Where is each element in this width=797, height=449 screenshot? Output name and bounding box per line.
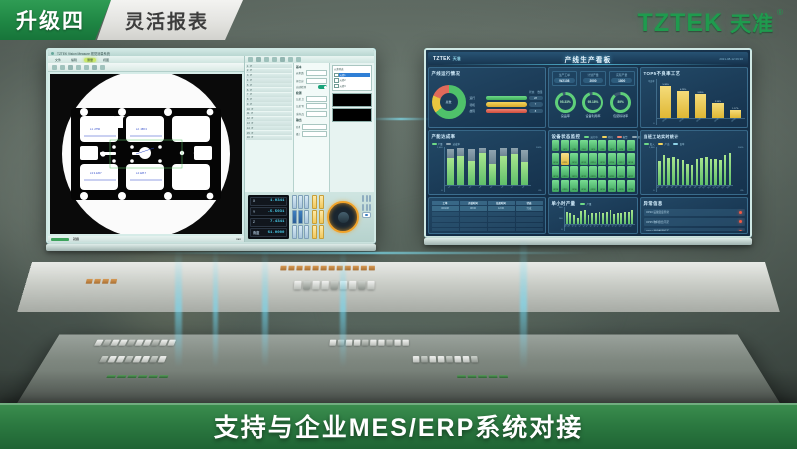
roi-icon[interactable] [92, 65, 97, 70]
equipment-cell[interactable]: OP16 [608, 153, 616, 165]
chart-bar [728, 147, 732, 185]
capacity-legend: 产量 达成率 [432, 142, 543, 146]
equipment-cell[interactable]: OP11 [561, 153, 569, 165]
axis-tick: 0% [740, 190, 743, 192]
prop-input[interactable] [306, 111, 327, 117]
auto-detect-toggle[interactable] [318, 85, 327, 89]
export-icon[interactable] [288, 57, 293, 62]
prop-section-1: 检测 [296, 91, 327, 95]
element-grid-row[interactable]: 13P [246, 121, 292, 125]
equipment-cell[interactable]: OP24 [598, 166, 606, 178]
element-grid-row[interactable]: 2P [246, 69, 292, 73]
grid-cell-element: P [250, 65, 252, 68]
prop-input[interactable] [306, 96, 327, 102]
factory-crate [369, 266, 375, 271]
gauge-utilization: 95.18% 设备利用率 [582, 92, 603, 119]
element-grid-row[interactable]: 15P [246, 131, 292, 135]
vision-canvas-pane: 文件 编辑 测量 视图 [48, 56, 245, 242]
delete-element-icon[interactable] [256, 57, 261, 62]
element-grid-row[interactable]: 11P [246, 112, 292, 116]
chart-bar [631, 207, 633, 224]
bar-segment-value [606, 212, 608, 224]
keypad-button[interactable] [304, 225, 309, 239]
jog-dial[interactable] [327, 201, 359, 233]
chart-bar [667, 147, 671, 185]
factory-machine [421, 356, 428, 362]
alarm-item[interactable]: OP35 物料供给不足 [644, 218, 745, 226]
chart-bar [573, 207, 575, 224]
run-icon[interactable] [264, 57, 269, 62]
equipment-cell[interactable]: OP6 [598, 140, 606, 152]
settings-icon[interactable] [296, 57, 301, 62]
legend-label: 运行中 [590, 135, 597, 139]
hourly-legend: 产量 [580, 202, 591, 206]
keypad-button[interactable] [298, 195, 303, 209]
right-monitor: TZTEK 天准 产线生产看板 2021-08-12 09:30 产线运行情况 [424, 48, 752, 238]
factory-machine-row [94, 340, 176, 346]
bar-segment-value [624, 212, 626, 223]
chart-bar [686, 147, 690, 185]
card-alarms: 异常信息 OP20 设备温度异常OP35 物料供给不足OP12 视觉检测超差 [640, 197, 748, 234]
jog-right-icon[interactable] [319, 210, 324, 224]
bar-segment-value [719, 160, 722, 184]
grid-cell-index: 8 [247, 98, 248, 101]
bar-segment-value [724, 155, 727, 185]
axis-tick: 0 [653, 190, 654, 192]
factory-machine [329, 340, 336, 346]
chart-bar [456, 147, 465, 185]
gauge-value: 95.33% [558, 95, 574, 111]
chart-bar [509, 147, 518, 185]
axis-tick: 200 [559, 207, 563, 209]
gauge-ring: 89% [610, 92, 631, 113]
equipment-cell[interactable]: OP29 [561, 180, 569, 192]
misc-button[interactable] [362, 195, 364, 202]
equipment-legend: 运行中待机报警离线 [584, 135, 642, 139]
dashboard-title: 产线生产看板 [428, 54, 748, 64]
prop-field[interactable]: 元素类型 [296, 70, 327, 76]
vision-image-canvas[interactable]: L1 .2750 L2 .158.3 L3 3.1207 L4 128.7 [50, 74, 242, 234]
grid-cell-element: P [250, 74, 252, 77]
checkbox-icon[interactable] [334, 78, 339, 83]
prop-field[interactable]: 采样点数 [296, 111, 327, 117]
gauge-value: 89% [613, 95, 629, 111]
ribbon-step-chip: 升级四 [0, 0, 111, 40]
dro-axis-label: Y [253, 210, 255, 214]
brand-logo-en: TZTEK [638, 9, 724, 38]
axis-jog-arrows[interactable] [312, 195, 324, 239]
right-monitor-screen: TZTEK 天准 产线生产看板 2021-08-12 09:30 产线运行情况 [424, 48, 752, 238]
table-cell [516, 223, 543, 228]
equipment-cell[interactable]: OP26 [617, 166, 625, 178]
vision-tab-0[interactable]: 文件 [52, 58, 64, 62]
equipment-cell[interactable]: OP31 [580, 180, 588, 192]
table-row[interactable] [432, 212, 543, 217]
equipment-cell[interactable]: OP14 [589, 153, 597, 165]
legend-header: 状态 数量 [470, 90, 543, 94]
table-row[interactable] [432, 217, 543, 222]
tree-item[interactable]: 元素2 [334, 78, 370, 83]
save-icon[interactable] [280, 57, 285, 62]
equipment-cell[interactable]: OP3 [570, 140, 578, 152]
legend-swatch [580, 203, 585, 205]
table-row[interactable] [432, 223, 543, 228]
line-status-donut-chart: 总数 [432, 85, 466, 119]
shift-bars [657, 147, 733, 186]
prop-field[interactable]: 拟合方式 [296, 78, 327, 84]
axis-tick: 0% [538, 190, 541, 192]
bar-segment-value [658, 161, 661, 185]
misc-controls [362, 195, 371, 239]
equipment-cell[interactable]: OP35 [617, 180, 625, 192]
element-grid-row[interactable]: 4P [246, 78, 292, 82]
equipment-status-grid[interactable]: OP1OP2OP3OP4OP5OP6OP7OP8OP9OP10OP11OP12O… [552, 140, 635, 192]
shift-x-axis: S1S2S3S4S5S6S7S8S9S10S11S12S13S14S15S16 [657, 186, 733, 192]
jog-dial-knob[interactable] [338, 212, 349, 223]
element-grid-row[interactable]: 8P [246, 97, 292, 101]
misc-button[interactable] [366, 195, 368, 202]
dashboard-column-left: 产线运行情况 总数 状态 数量 [428, 67, 546, 234]
keypad-button[interactable] [298, 210, 303, 224]
data-link-beam [372, 118, 430, 120]
table-row[interactable] [432, 228, 543, 230]
axis-tick: 0 [653, 123, 654, 125]
jog-zdown-icon[interactable] [319, 225, 324, 239]
equipment-cell[interactable]: OP34 [608, 180, 616, 192]
bar-segment-value [686, 164, 689, 185]
jog-dial-area[interactable] [327, 195, 359, 239]
grid-cell-index: 13 [247, 122, 250, 125]
equipment-cell[interactable]: OP27 [627, 166, 635, 178]
x-axis-tick: L2 [455, 183, 466, 194]
jog-down-icon[interactable] [319, 195, 324, 209]
equipment-cell[interactable]: OP7 [608, 140, 616, 152]
chart-bar [598, 207, 600, 224]
screenshot-stage: 升级四 灵活报表 TZTEK 天准 ® TZTEK Vision Measure… [0, 0, 797, 449]
jog-left-icon[interactable] [312, 210, 317, 224]
bar-segment-value [569, 213, 571, 223]
axis-tick: 0 [561, 229, 562, 231]
equipment-cell[interactable]: OP25 [608, 166, 616, 178]
data-bus-beam [150, 252, 590, 254]
factory-machine [362, 340, 369, 346]
equipment-cell[interactable]: OP8 [617, 140, 625, 152]
factory-crate-row [85, 279, 117, 284]
alarm-text: OP35 物料供给不足 [646, 220, 669, 224]
element-grid-row[interactable]: 16P [246, 136, 292, 140]
equipment-cell[interactable]: OP1 [552, 140, 560, 152]
axis-tick: 100 [559, 218, 563, 220]
grid-cell-index: 6 [247, 89, 248, 92]
chart-bar [723, 147, 727, 185]
capacity-x-axis: L1L2L3L4L5L6L7L8 [445, 186, 531, 192]
function-keypad[interactable] [292, 195, 309, 239]
equipment-cell[interactable]: OP4 [580, 140, 588, 152]
grid-cell-index: 2 [247, 69, 248, 72]
keypad-button[interactable] [304, 210, 309, 224]
dro-row-x: X 1.0341 [250, 197, 287, 206]
card-line-status: 产线运行情况 总数 状态 数量 [428, 67, 546, 128]
equipment-cell[interactable]: OP23 [589, 166, 597, 178]
prop-input[interactable] [302, 131, 327, 137]
checkbox-icon[interactable] [334, 84, 339, 89]
dashboard-body: 产线运行情况 总数 状态 数量 [428, 67, 748, 234]
legend-swatch [673, 143, 678, 145]
element-tree[interactable]: 元素列表 元素1 元素2 [332, 65, 372, 91]
equipment-cell[interactable]: OP21 [570, 166, 578, 178]
prop-input[interactable] [302, 124, 327, 130]
legend-swatch [632, 136, 637, 138]
element-grid-row[interactable]: 5P [246, 83, 292, 87]
prop-field[interactable]: 公差下限 [296, 103, 327, 109]
legend-name: 故障 [470, 109, 484, 113]
bar-segment-value [511, 154, 518, 184]
chart-bar: 2.35% [710, 79, 726, 118]
legend-swatch [432, 143, 437, 145]
alarm-item[interactable]: OP12 视觉检测超差 [644, 228, 745, 231]
table-cell [460, 223, 487, 228]
stop-icon[interactable] [272, 57, 277, 62]
dashboard-column-center: 生产工单 W2108 计划产量 2000 实际产量 1800 [548, 67, 638, 234]
factory-machine-row [99, 356, 167, 362]
equipment-cell[interactable]: OP20 [561, 166, 569, 178]
grid-cell-index: 16 [247, 136, 250, 139]
grid-cell-element: P [250, 79, 252, 82]
misc-button[interactable] [369, 195, 371, 202]
equipment-cell[interactable]: OP28 [552, 180, 560, 192]
bar-value-label: 2.35% [715, 101, 721, 103]
equipment-cell[interactable]: OP36 [627, 180, 635, 192]
prop-section-0: 基本 [296, 65, 327, 69]
card-equipment-status: 设备状态监控 运行中待机报警离线 OP1OP2OP3OP4OP5OP6OP7OP… [548, 130, 638, 195]
new-element-icon[interactable] [248, 57, 253, 62]
misc-button[interactable] [362, 204, 364, 211]
gauge-label: 良品率 [561, 114, 570, 118]
zoom-icon[interactable] [60, 65, 65, 70]
gauge-yield: 95.33% 良品率 [555, 92, 576, 119]
table-row[interactable]: W210808:0012:00完成 [432, 206, 543, 211]
data-upload-beam [175, 250, 182, 368]
checkbox-icon[interactable] [334, 73, 339, 78]
card-kpi: 生产工单 W2108 计划产量 2000 实际产量 1800 [548, 67, 638, 128]
tree-item-label: 元素3 [340, 84, 346, 88]
ribbon-feature-chip: 灵活报表 [97, 0, 243, 40]
alarm-item[interactable]: OP20 设备温度异常 [644, 209, 745, 217]
element-grid-row[interactable]: 7P [246, 93, 292, 97]
legend-item: 达成率 [446, 142, 459, 146]
prop-label: 采样点数 [296, 112, 304, 116]
keypad-button[interactable] [292, 195, 297, 209]
equipment-cell[interactable]: OP5 [589, 140, 597, 152]
equipment-cell[interactable]: OP32 [589, 180, 597, 192]
equipment-cell[interactable]: OP18 [627, 153, 635, 165]
vision-tab-1[interactable]: 编辑 [68, 58, 80, 62]
chart-bar [569, 207, 571, 224]
keypad-button[interactable] [292, 210, 297, 224]
top5-bars: 5.18%4.25%3.85%2.35%1.17% [657, 79, 745, 119]
gauge-label: 设备利用率 [585, 114, 600, 118]
equipment-cell[interactable]: OP22 [580, 166, 588, 178]
vision-tab-2[interactable]: 测量 [84, 58, 96, 62]
cursor-icon[interactable] [52, 65, 57, 70]
bar-segment-value [696, 159, 699, 185]
shift-y-axis-right: 100% 0% [733, 147, 745, 192]
bar-segment-value [628, 212, 630, 224]
legend-swatch [617, 136, 622, 138]
factory-crate [85, 279, 92, 284]
dro-axis-label: 角度 [253, 230, 259, 235]
keypad-button[interactable] [292, 225, 297, 239]
prop-field[interactable]: 名称 [296, 124, 327, 130]
prop-field[interactable]: 自动检测 [296, 85, 327, 89]
misc-button[interactable] [366, 204, 368, 211]
factory-crate [296, 266, 302, 271]
grid-cell-element: P [252, 122, 254, 125]
legend-header-col-1: 数量 [537, 90, 542, 94]
equipment-cell[interactable]: OP19 [552, 166, 560, 178]
dro-row-angle: 角度 61.0000 [250, 228, 287, 237]
legend-label: 待机 [608, 135, 613, 139]
element-grid-row[interactable]: 12P [246, 117, 292, 121]
kpi-label: 生产工单 [559, 73, 570, 77]
bar-segment-remaining [468, 149, 475, 161]
pan-icon[interactable] [68, 65, 73, 70]
tree-item-selected[interactable]: 元素1 [334, 73, 370, 78]
factory-crate [110, 279, 117, 284]
bar-segment-value [620, 213, 622, 223]
dro-axis-label: X [253, 199, 255, 203]
table-header-cell: 结束时间 [488, 201, 515, 206]
misc-button[interactable] [369, 204, 371, 211]
brand-registered-icon: ® [777, 8, 783, 17]
chart-bar [580, 207, 582, 224]
gear-icon[interactable] [304, 195, 309, 209]
shift-legend: 投入产出良率 [644, 142, 745, 146]
measure-line-icon[interactable] [76, 65, 81, 70]
gauge-oee: 89% 包装稼动率 [610, 92, 631, 119]
axis-max-label: 100% [738, 147, 744, 149]
jog-zup-icon[interactable] [312, 225, 317, 239]
equipment-cell[interactable]: OP17 [617, 153, 625, 165]
prop-field[interactable]: 备注 [296, 131, 327, 137]
legend-label: 产出 [665, 142, 670, 146]
bar-segment-value [700, 158, 703, 184]
legend-name: 运行 [470, 96, 484, 100]
kpi-box: 实际产量 1800 [609, 71, 635, 86]
card-title: 异常信息 [644, 201, 745, 207]
element-grid-row[interactable]: 10P [246, 107, 292, 111]
table-cell: 08:00 [460, 206, 487, 211]
kpi-box: 生产工单 W2108 [552, 71, 578, 86]
bar-segment-remaining [447, 149, 454, 159]
legend-bar [486, 96, 527, 101]
element-grid-row[interactable]: 9P [246, 102, 292, 106]
gauge-ring: 95.18% [582, 92, 603, 113]
prop-field[interactable]: 公差上限 [296, 96, 327, 102]
equipment-cell[interactable]: OP2 [561, 140, 569, 152]
equipment-cell[interactable]: OP33 [598, 180, 606, 192]
equipment-cell[interactable]: OP30 [570, 180, 578, 192]
element-grid-row[interactable]: 1P [246, 64, 292, 68]
status-ready-label: 就绪 [73, 237, 79, 241]
element-grid-row[interactable]: 3P [246, 74, 292, 78]
bar-segment-value [489, 164, 496, 185]
legend-label: 报警 [623, 135, 628, 139]
legend-item: 报警 [617, 135, 628, 139]
left-monitor-screen: TZTEK Vision Measure 视觉测量系统 文件 编辑 测量 视图 [46, 48, 376, 244]
grid-cell-element: P [252, 136, 254, 139]
table-cell [516, 217, 543, 222]
bar-segment-value [588, 215, 590, 224]
gauge-label: 包装稼动率 [613, 114, 628, 118]
measure-circle-icon[interactable] [84, 65, 89, 70]
chart-bar [584, 207, 586, 224]
element-grid-row[interactable]: 6P [246, 88, 292, 92]
legend-bar [486, 109, 527, 114]
prop-input[interactable] [306, 78, 327, 84]
equipment-cell[interactable]: OP13 [580, 153, 588, 165]
light-icon[interactable] [100, 65, 105, 70]
vision-tab-3[interactable]: 视图 [100, 58, 112, 62]
dro-value: 1.0341 [270, 199, 284, 203]
legend-label: 良率 [680, 142, 685, 146]
bar-segment-value [500, 156, 507, 184]
grid-cell-element: P [250, 93, 252, 96]
top5-x-axis: OP10OP20OP30OP40OP50 [657, 119, 745, 125]
prop-input[interactable] [306, 70, 327, 76]
axis-max-label: 100% [536, 147, 542, 149]
factory-machine [429, 356, 436, 362]
factory-machine-row [413, 356, 478, 362]
keypad-button[interactable] [298, 225, 303, 239]
equipment-cell[interactable]: OP12 [570, 153, 578, 165]
tree-item[interactable]: 元素3 [334, 84, 370, 89]
factory-machine [312, 281, 320, 290]
factory-machine [303, 281, 311, 290]
chart-bar [591, 207, 593, 224]
alarm-list[interactable]: OP20 设备温度异常OP35 物料供给不足OP12 视觉检测超差 [644, 209, 745, 231]
element-grid-row[interactable]: 14P [246, 126, 292, 130]
grid-cell-index: 5 [247, 84, 248, 87]
grid-cell-index: 4 [247, 79, 248, 82]
capacity-bars [445, 147, 531, 186]
bar-segment-value [667, 158, 670, 184]
legend-value: 28 [529, 96, 543, 101]
workorder-table[interactable]: 工单开始时间结束时间状态W210808:0012:00完成 [432, 201, 543, 231]
right-monitor-stand [424, 238, 752, 245]
axis-label: 不良率 [648, 79, 655, 83]
prop-input[interactable] [306, 103, 327, 109]
equipment-cell[interactable]: OP9 [627, 140, 635, 152]
table-cell [488, 217, 515, 222]
legend-label: 投入 [650, 142, 655, 146]
axis-tick: 0 [441, 190, 442, 192]
bar-segment-value [577, 218, 579, 224]
equipment-cell[interactable]: OP15 [598, 153, 606, 165]
inspected-part-silhouette: L1 .2750 L2 .158.3 L3 3.1207 L4 128.7 [70, 102, 222, 206]
jog-up-icon[interactable] [312, 195, 317, 209]
kpi-value: 1800 [611, 78, 632, 83]
dashboard-header: TZTEK 天准 产线生产看板 2021-08-12 09:30 [428, 52, 748, 65]
x-axis-tick: L1 [445, 183, 456, 194]
chart-bar [662, 147, 666, 185]
light-intensity-slider[interactable] [362, 212, 371, 218]
equipment-cell[interactable]: OP10 [552, 153, 560, 165]
bar-segment-value [610, 210, 612, 224]
measure-label-1: L1 .2750 [90, 128, 100, 131]
table-cell [460, 217, 487, 222]
element-grid[interactable]: 1P2P3P4P5P6P7P8P9P10P11P12P13P14P15P16P [245, 63, 294, 192]
